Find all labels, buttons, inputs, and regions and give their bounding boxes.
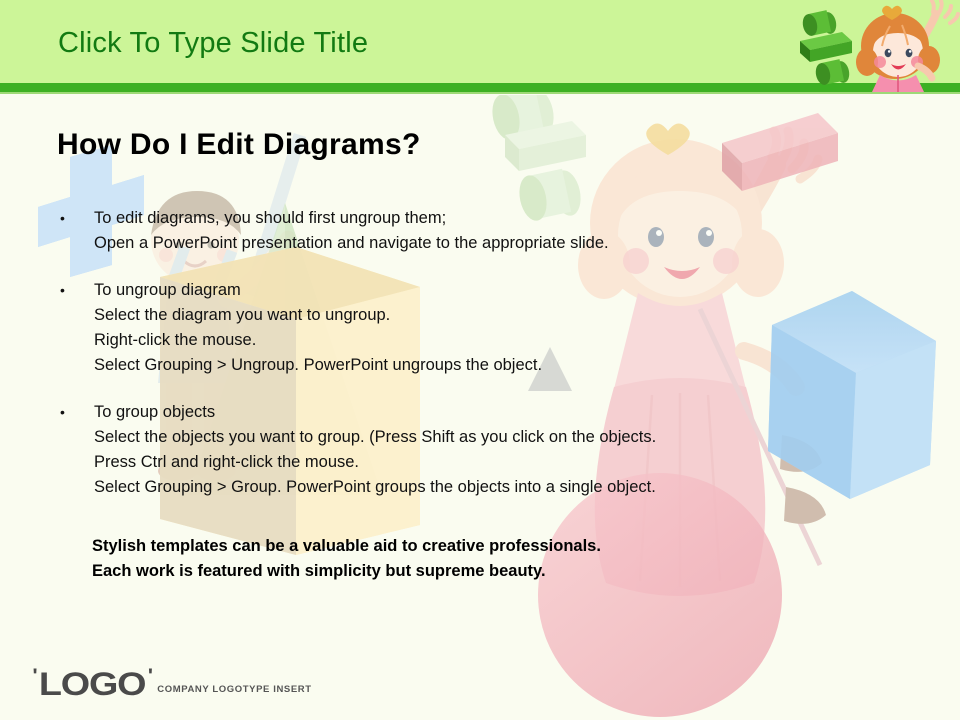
header-divider-shadow bbox=[0, 92, 960, 94]
slide-title-placeholder[interactable]: Click To Type Slide Title bbox=[58, 27, 368, 60]
green-division-sign-decoration bbox=[489, 95, 586, 223]
list-item-text: Select Grouping > Group. PowerPoint grou… bbox=[94, 478, 656, 496]
list-item-text: Select Grouping > Ungroup. PowerPoint un… bbox=[94, 356, 542, 374]
list-item-text: To edit diagrams, you should first ungro… bbox=[94, 209, 446, 227]
list-item-text: Press Ctrl and right-click the mouse. bbox=[94, 453, 359, 471]
list-item: Select the objects you want to group. (P… bbox=[56, 425, 916, 450]
list-item: Press Ctrl and right-click the mouse. bbox=[56, 450, 916, 475]
list-item-text: Select the diagram you want to ungroup. bbox=[94, 306, 390, 324]
list-item-text: To ungroup diagram bbox=[94, 281, 241, 299]
list-item-text: Right-click the mouse. bbox=[94, 331, 256, 349]
list-item: Select the diagram you want to ungroup. bbox=[56, 303, 916, 328]
footer-logo: ' LOGO ' COMPANY LOGOTYPE INSERT bbox=[30, 668, 312, 700]
bullet-marker-icon: • bbox=[60, 278, 65, 303]
pink-bar-decoration bbox=[722, 113, 838, 191]
list-item-text: Select the objects you want to group. (P… bbox=[94, 428, 656, 446]
logo-tick-left: ' bbox=[32, 667, 36, 686]
list-item-text: Open a PowerPoint presentation and navig… bbox=[94, 234, 609, 252]
bullet-group: • To edit diagrams, you should first ung… bbox=[56, 206, 916, 256]
bullet-group: • To group objects Select the objects yo… bbox=[56, 400, 916, 500]
list-item: • To ungroup diagram bbox=[56, 278, 916, 303]
bullet-group: • To ungroup diagram Select the diagram … bbox=[56, 278, 916, 378]
closing-line: Each work is featured with simplicity bu… bbox=[92, 559, 601, 584]
header-illustration bbox=[770, 0, 960, 92]
list-item: Open a PowerPoint presentation and navig… bbox=[56, 231, 916, 256]
closing-line: Stylish templates can be a valuable aid … bbox=[92, 534, 601, 559]
list-item: • To edit diagrams, you should first ung… bbox=[56, 206, 916, 231]
slide-canvas: Click To Type Slide Title How Do I Edit … bbox=[0, 0, 960, 720]
list-item: • To group objects bbox=[56, 400, 916, 425]
bullet-list: • To edit diagrams, you should first ung… bbox=[56, 206, 916, 500]
bullet-marker-icon: • bbox=[60, 206, 65, 231]
list-item: Select Grouping > Ungroup. PowerPoint un… bbox=[56, 353, 916, 378]
closing-statement: Stylish templates can be a valuable aid … bbox=[92, 534, 601, 584]
logo-text: LOGO bbox=[39, 668, 145, 700]
pink-sphere-decoration bbox=[538, 473, 782, 717]
list-item-text: To group objects bbox=[94, 403, 215, 421]
page-title: How Do I Edit Diagrams? bbox=[57, 128, 421, 162]
bullet-marker-icon: • bbox=[60, 400, 65, 425]
logo-caption: COMPANY LOGOTYPE INSERT bbox=[157, 684, 311, 695]
logo-wordmark: ' LOGO ' bbox=[30, 668, 154, 700]
list-item: Select Grouping > Group. PowerPoint grou… bbox=[56, 475, 916, 500]
logo-tick-right: ' bbox=[148, 667, 152, 686]
list-item: Right-click the mouse. bbox=[56, 328, 916, 353]
